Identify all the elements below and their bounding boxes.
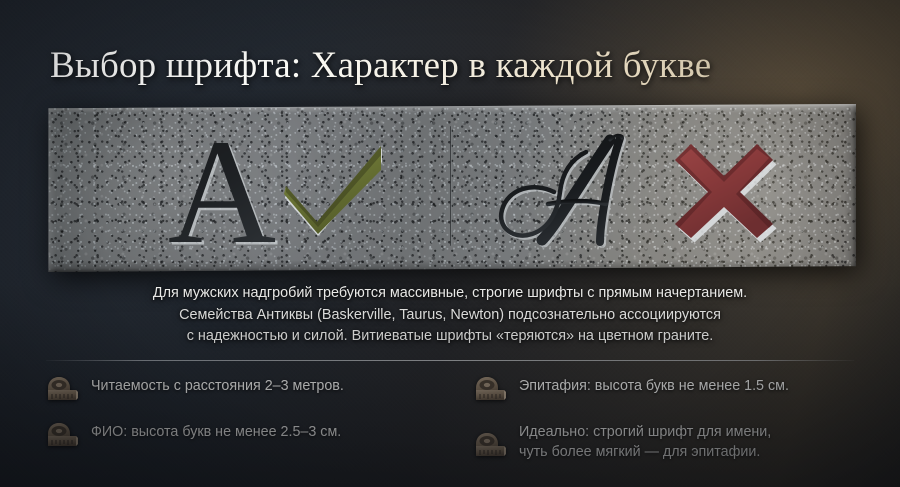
list-item: ФИО: высота букв не менее 2.5–3 см.: [46, 420, 474, 462]
section-divider: [46, 360, 854, 361]
list-item-text: Эпитафия: высота букв не менее 1.5 см.: [519, 374, 789, 396]
check-mark-icon: [282, 142, 392, 242]
engraved-serif-letter-a: A A: [152, 132, 292, 250]
list-item-line-1: Идеально: строгий шрифт для имени,: [519, 422, 771, 442]
list-item: Идеально: строгий шрифт для имени, чуть …: [474, 420, 858, 462]
list-item-text: ФИО: высота букв не менее 2.5–3 см.: [91, 420, 341, 442]
granite-surface: A A: [46, 104, 856, 272]
tips-list: Читаемость с расстояния 2–3 метров.: [46, 374, 858, 462]
vertical-divider: [450, 126, 452, 246]
tape-measure-icon: [46, 375, 80, 402]
engraved-script-letter-a: [492, 130, 662, 252]
list-item-line-1: ФИО: высота букв не менее 2.5–3 см.: [91, 422, 341, 442]
list-item-line-1: Эпитафия: высота букв не менее 1.5 см.: [519, 376, 789, 396]
svg-text:A: A: [168, 109, 276, 272]
list-item: Эпитафия: высота букв не менее 1.5 см.: [474, 374, 858, 402]
body-paragraph: Для мужских надгробий требуются массивны…: [0, 283, 900, 348]
cross-mark-icon: [674, 144, 776, 240]
body-line-2: Семейства Антиквы (Baskerville, Taurus, …: [0, 305, 900, 327]
tape-measure-icon: [46, 421, 80, 448]
list-item-line-1: Читаемость с расстояния 2–3 метров.: [91, 376, 344, 396]
page-title: Выбор шрифта: Характер в каждой букве: [50, 44, 711, 88]
infographic-canvas: Выбор шрифта: Характер в каждой букве: [0, 0, 900, 487]
list-item-text: Читаемость с расстояния 2–3 метров.: [91, 374, 344, 396]
list-item-line-2: чуть более мягкий — для эпитафии.: [519, 442, 771, 462]
body-line-3: с надежностью и силой. Витиеватые шрифты…: [0, 326, 900, 348]
granite-plaque: A A: [46, 104, 856, 272]
list-item: Читаемость с расстояния 2–3 метров.: [46, 374, 474, 402]
tape-measure-icon: [474, 431, 508, 458]
tape-measure-icon: [474, 375, 508, 402]
body-line-1: Для мужских надгробий требуются массивны…: [0, 283, 900, 305]
list-item-text: Идеально: строгий шрифт для имени, чуть …: [519, 420, 771, 462]
